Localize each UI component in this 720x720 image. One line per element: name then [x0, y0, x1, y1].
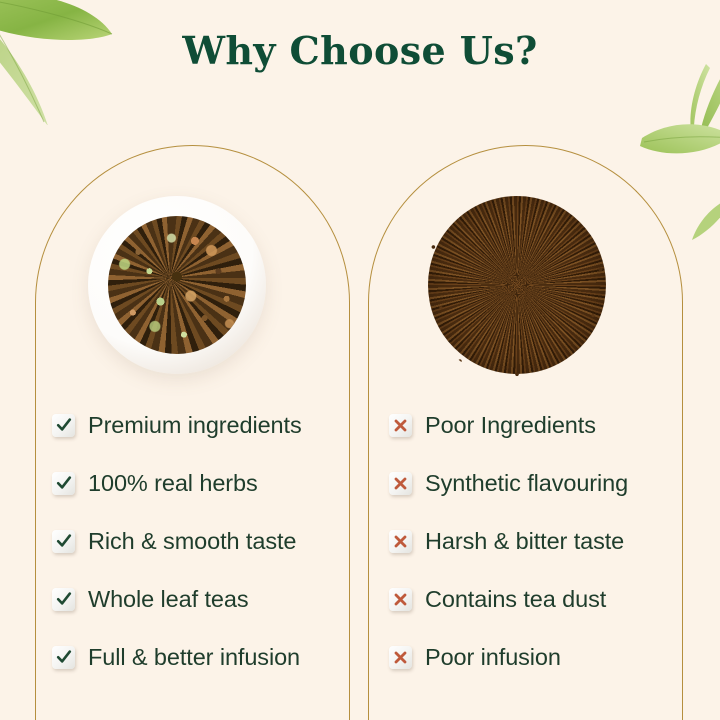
list-item-label: Poor Ingredients	[425, 412, 596, 439]
check-icon	[52, 472, 75, 495]
list-item: Whole leaf teas	[52, 570, 302, 628]
list-item: Contains tea dust	[389, 570, 628, 628]
premium-tea-feature-list: Premium ingredients 100% real herbs Rich…	[52, 396, 302, 686]
cross-icon	[389, 414, 412, 437]
list-item-label: Contains tea dust	[425, 586, 606, 613]
list-item: Poor Ingredients	[389, 396, 628, 454]
page-title: Why Choose Us?	[0, 28, 720, 73]
tea-leaf-top-right-icon	[636, 62, 720, 187]
check-icon	[52, 414, 75, 437]
tea-leaf-middle-right-icon	[690, 196, 720, 261]
whole-leaf-tea-bowl-image	[88, 196, 266, 374]
list-item: Rich & smooth taste	[52, 512, 302, 570]
list-item: Full & better infusion	[52, 628, 302, 686]
whole-leaf-tea-contents	[108, 216, 247, 355]
cross-icon	[389, 472, 412, 495]
check-icon	[52, 646, 75, 669]
list-item-label: Poor infusion	[425, 644, 561, 671]
cross-icon	[389, 588, 412, 611]
tea-dust-pile-image	[428, 196, 606, 374]
list-item: Poor infusion	[389, 628, 628, 686]
check-icon	[52, 530, 75, 553]
tea-dust-contents	[428, 196, 606, 374]
list-item-label: Harsh & bitter taste	[425, 528, 624, 555]
list-item-label: Premium ingredients	[88, 412, 302, 439]
cross-icon	[389, 530, 412, 553]
list-item: Harsh & bitter taste	[389, 512, 628, 570]
list-item: Premium ingredients	[52, 396, 302, 454]
list-item-label: 100% real herbs	[88, 470, 258, 497]
list-item-label: Synthetic flavouring	[425, 470, 628, 497]
cross-icon	[389, 646, 412, 669]
list-item-label: Full & better infusion	[88, 644, 300, 671]
list-item-label: Rich & smooth taste	[88, 528, 296, 555]
why-choose-us-infographic: Why Choose Us? Premium ingredients 100% …	[0, 0, 720, 720]
bowl-shape	[88, 196, 266, 374]
list-item: 100% real herbs	[52, 454, 302, 512]
ordinary-tea-feature-list: Poor Ingredients Synthetic flavouring Ha…	[389, 396, 628, 686]
list-item-label: Whole leaf teas	[88, 586, 248, 613]
check-icon	[52, 588, 75, 611]
list-item: Synthetic flavouring	[389, 454, 628, 512]
